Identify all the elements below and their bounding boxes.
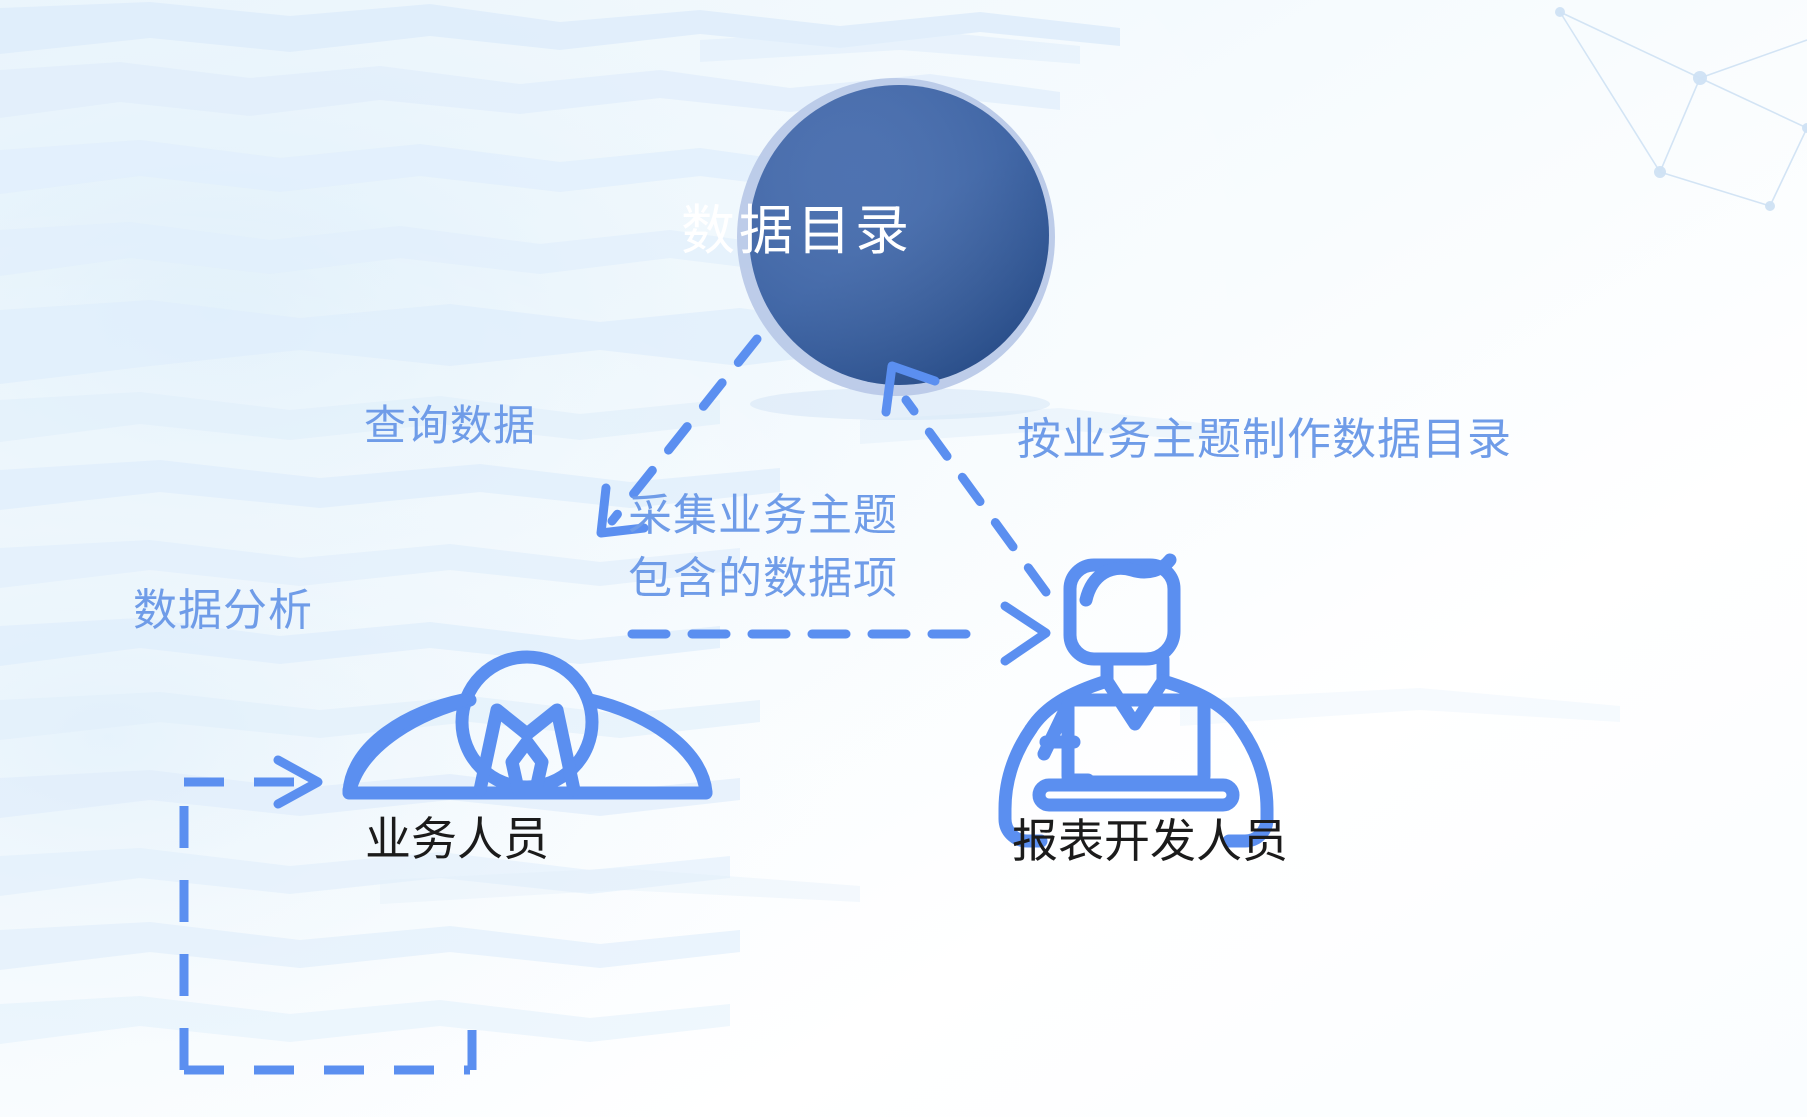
edge-label-build-catalog-by-subject: 按业务主题制作数据目录 bbox=[1017, 403, 1512, 467]
edge-label-query-data: 查询数据 bbox=[364, 392, 536, 453]
edge-label-collect-subject-items-line1: 采集业务主题 bbox=[628, 484, 898, 547]
edge-collect-subject-items bbox=[632, 606, 1046, 661]
business-user-label: 业务人员 bbox=[365, 803, 549, 869]
edge-label-data-analysis: 数据分析 bbox=[133, 574, 313, 638]
data-catalog-label: 数据目录 bbox=[681, 186, 913, 265]
edge-label-collect-subject-items-line2: 包含的数据项 bbox=[628, 547, 898, 610]
diagram-artwork bbox=[0, 0, 1807, 1117]
diagram-canvas: 数据目录 查询数据 按业务主题制作数据目录 采集业务主题 包含的数据项 数据分析… bbox=[0, 0, 1807, 1117]
business-person-icon bbox=[349, 657, 706, 793]
report-developer-label: 报表开发人员 bbox=[1012, 805, 1288, 871]
developer-laptop-icon bbox=[1005, 560, 1267, 841]
